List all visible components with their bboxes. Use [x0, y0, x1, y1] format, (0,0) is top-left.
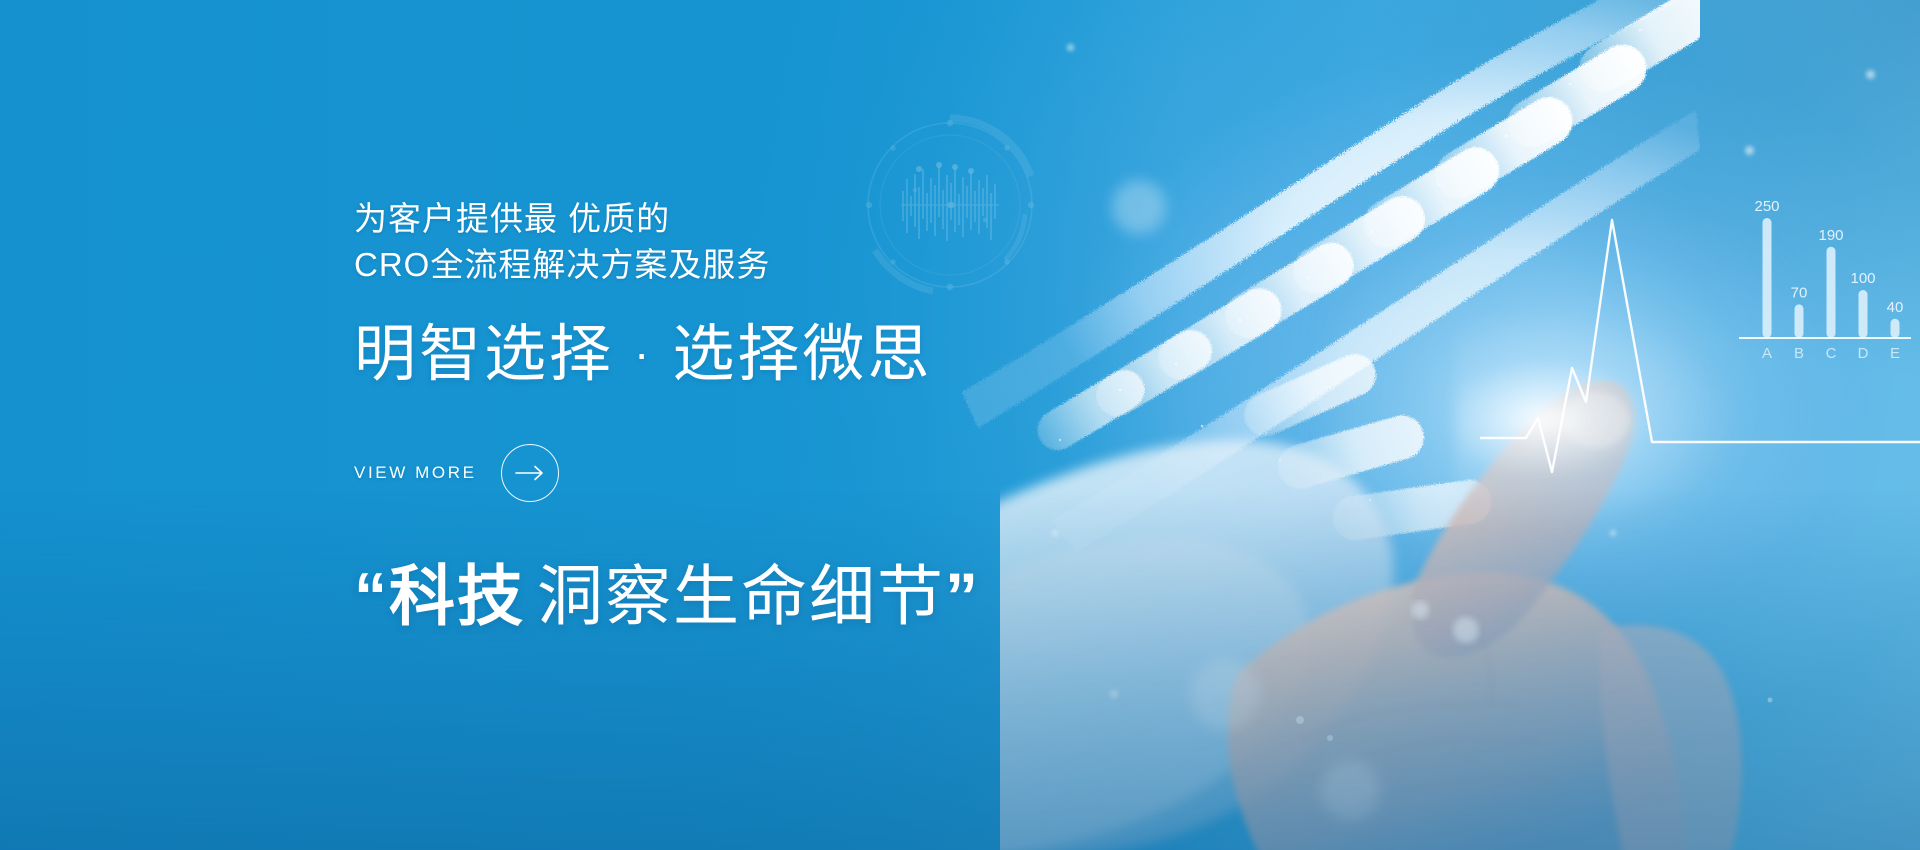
- bar-category-label: C: [1826, 345, 1837, 362]
- bokeh-speck: [1112, 180, 1166, 234]
- bar-B: [1795, 304, 1804, 338]
- view-more-label: VIEW MORE: [354, 463, 477, 483]
- bar-value-label: 40: [1887, 299, 1904, 316]
- bar-category-label: B: [1794, 345, 1804, 362]
- bar-value-label: 190: [1818, 227, 1843, 244]
- page-title: 明智选择·选择微思: [354, 316, 1114, 392]
- bar-value-label: 70: [1791, 284, 1808, 301]
- headline-right: 选择微思: [672, 320, 932, 389]
- view-more-button[interactable]: VIEW MORE: [354, 444, 559, 502]
- subtitle-line-1: 为客户提供最 优质的: [354, 196, 1114, 242]
- bokeh-speck: [1745, 146, 1754, 155]
- quote-light-text: 洞察生命细节: [525, 559, 945, 633]
- bar-chart: 2507019010040 ABCDE: [1735, 190, 1915, 380]
- bar-category-label: A: [1762, 345, 1772, 362]
- bokeh-speck: [1067, 44, 1074, 51]
- bar-E: [1891, 319, 1900, 338]
- hero-copy-block: 为客户提供最 优质的 CRO全流程解决方案及服务 明智选择·选择微思 VIEW …: [354, 196, 1114, 636]
- hero-banner: 2507019010040 ABCDE 为客户提供最 优质的 CRO全流程解决方…: [0, 0, 1920, 850]
- hero-quote: “科技洞察生命细节”: [354, 556, 1114, 636]
- bar-category-label: E: [1890, 345, 1900, 362]
- arrow-right-icon[interactable]: [501, 444, 559, 502]
- bar-category-label: D: [1858, 345, 1869, 362]
- bar-C: [1827, 247, 1836, 338]
- bar-value-label: 100: [1850, 270, 1875, 287]
- bokeh-speck: [1866, 70, 1875, 79]
- bar-A: [1763, 218, 1772, 338]
- headline-left: 明智选择: [354, 320, 614, 389]
- subtitle-line-2: CRO全流程解决方案及服务: [354, 242, 1114, 288]
- quote-open-mark: “: [354, 559, 389, 633]
- bar-D: [1859, 290, 1868, 338]
- bar-value-label: 250: [1754, 198, 1779, 215]
- headline-separator: ·: [614, 327, 672, 379]
- quote-close-mark: ”: [945, 559, 980, 633]
- quote-strong-text: 科技: [389, 559, 525, 633]
